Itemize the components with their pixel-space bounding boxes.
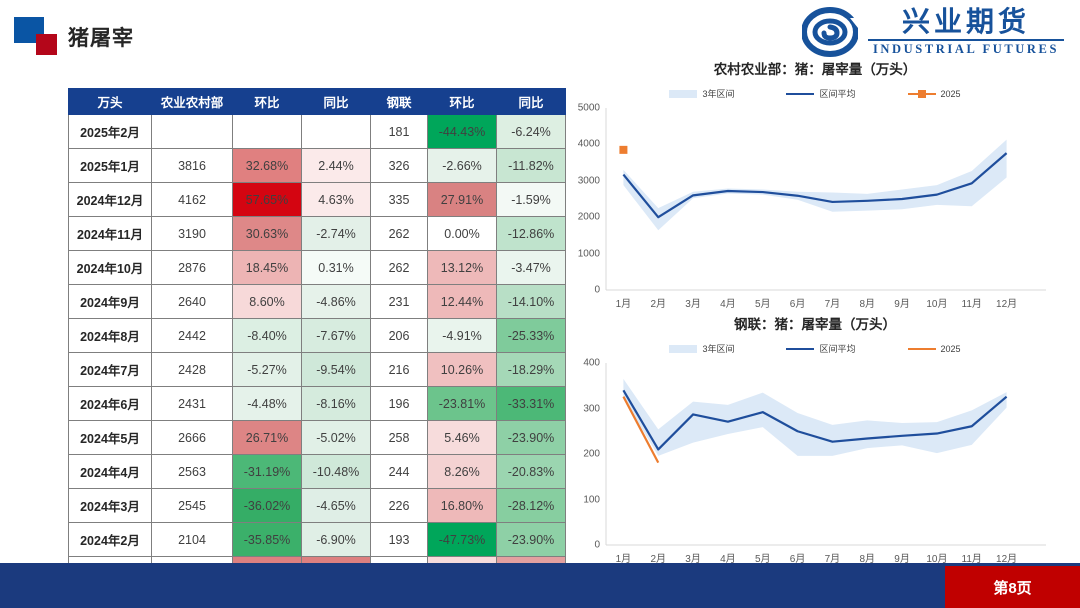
chart2-legend-band: 3年区间 — [669, 342, 734, 355]
table-cell-my_mom: -44.43% — [428, 115, 497, 149]
table-cell-my_mom: 0.00% — [428, 217, 497, 251]
table-cell-my_mom: 13.12% — [428, 251, 497, 285]
line-swatch-icon — [786, 93, 814, 95]
table-cell-my_mom: -47.73% — [428, 523, 497, 557]
y-tick-label: 0 — [594, 285, 600, 296]
chart2-legend-current-label: 2025 — [941, 344, 961, 354]
plot2-svg — [606, 363, 1024, 545]
table-row: 2024年12月416257.65%4.63%33527.91%-1.59% — [69, 183, 566, 217]
table-cell-mara_yoy: -4.65% — [302, 489, 371, 523]
chart1-legend: 3年区间 区间平均 2025 — [560, 87, 1070, 100]
table-col-header-2: 环比 — [233, 89, 302, 115]
table-cell-mara_yoy: -9.54% — [302, 353, 371, 387]
page-number-badge: 第8页 — [945, 566, 1080, 608]
table-cell-mysteel: 258 — [371, 421, 428, 455]
table-row: 2024年9月26408.60%-4.86%23112.44%-14.10% — [69, 285, 566, 319]
chart2-legend-current: 2025 — [908, 342, 961, 355]
table-cell-my_mom: 12.44% — [428, 285, 497, 319]
y-tick-label: 200 — [583, 449, 600, 460]
chart1-legend-current: 2025 — [908, 87, 961, 100]
series-band-3y — [623, 379, 1006, 456]
plot1-svg — [606, 108, 1024, 290]
table-cell-mara_mom: 57.65% — [233, 183, 302, 217]
table-cell-mara_mom: -8.40% — [233, 319, 302, 353]
table-cell-mara_mom: -36.02% — [233, 489, 302, 523]
table-cell-mara_yoy: 0.31% — [302, 251, 371, 285]
table-cell-month: 2024年12月 — [69, 183, 152, 217]
table-header-row: 万头农业农村部环比同比钢联环比同比 — [69, 89, 566, 115]
table-cell-mara: 2876 — [152, 251, 233, 285]
table-cell-my_yoy: -12.86% — [497, 217, 566, 251]
footer-bar: 第8页 — [0, 566, 1080, 608]
x-tick-label: 12月 — [996, 295, 1017, 310]
y-tick-label: 0 — [594, 540, 600, 551]
page-title: 猪屠宰 — [68, 22, 134, 52]
table-cell-mysteel: 262 — [371, 251, 428, 285]
table-row: 2024年7月2428-5.27%-9.54%21610.26%-18.29% — [69, 353, 566, 387]
table-cell-mara_mom: 32.68% — [233, 149, 302, 183]
chart2-plot-area: 01002003004001月2月3月4月5月6月7月8月9月10月11月12月 — [606, 363, 1024, 545]
table-body: 2025年2月181-44.43%-6.24%2025年1月381632.68%… — [69, 115, 566, 591]
chart-mara-slaughter: 农村农业部：猪：屠宰量（万头） 3年区间 区间平均 2025 010002000… — [560, 58, 1070, 308]
table-cell-mara_mom: 26.71% — [233, 421, 302, 455]
series-band-3y — [623, 140, 1006, 231]
table-cell-mysteel: 231 — [371, 285, 428, 319]
table-row: 2025年1月381632.68%2.44%326-2.66%-11.82% — [69, 149, 566, 183]
table-cell-mara: 2563 — [152, 455, 233, 489]
y-tick-label: 1000 — [578, 248, 600, 259]
slaughter-data-table: 万头农业农村部环比同比钢联环比同比 2025年2月181-44.43%-6.24… — [68, 88, 566, 591]
table-row: 2024年4月2563-31.19%-10.48%2448.26%-20.83% — [69, 455, 566, 489]
table-cell-mysteel: 226 — [371, 489, 428, 523]
chart1-title: 农村农业部：猪：屠宰量（万头） — [560, 58, 1070, 78]
table-cell-mysteel: 193 — [371, 523, 428, 557]
table-row: 2024年8月2442-8.40%-7.67%206-4.91%-25.33% — [69, 319, 566, 353]
table-cell-my_mom: -23.81% — [428, 387, 497, 421]
table-cell-mysteel: 326 — [371, 149, 428, 183]
table-cell-mara_mom: 30.63% — [233, 217, 302, 251]
table-cell-mara: 2640 — [152, 285, 233, 319]
x-tick-label: 6月 — [790, 295, 806, 310]
chart1-legend-current-label: 2025 — [941, 89, 961, 99]
table-cell-my_yoy: -11.82% — [497, 149, 566, 183]
y-tick-label: 100 — [583, 494, 600, 505]
chart-mysteel-slaughter: 钢联：猪：屠宰量（万头） 3年区间 区间平均 2025 010020030040… — [560, 313, 1070, 563]
table-col-header-4: 钢联 — [371, 89, 428, 115]
table-cell-my_yoy: -6.24% — [497, 115, 566, 149]
table-cell-mara_mom: -4.48% — [233, 387, 302, 421]
table-col-header-0: 万头 — [69, 89, 152, 115]
x-tick-label: 1月 — [616, 295, 632, 310]
brand-name-cn: 兴业期货 — [902, 8, 1030, 36]
x-tick-label: 4月 — [720, 295, 736, 310]
table-cell-mara: 2545 — [152, 489, 233, 523]
table-cell-month: 2024年9月 — [69, 285, 152, 319]
table-cell-mara_mom: 8.60% — [233, 285, 302, 319]
chart2-legend-mean: 区间平均 — [786, 342, 855, 355]
table-row: 2024年3月2545-36.02%-4.65%22616.80%-28.12% — [69, 489, 566, 523]
x-tick-label: 8月 — [859, 295, 875, 310]
table-cell-my_mom: 8.26% — [428, 455, 497, 489]
chart1-legend-band-label: 3年区间 — [702, 87, 734, 100]
chart2-title: 钢联：猪：屠宰量（万头） — [560, 313, 1070, 333]
table-cell-month: 2025年2月 — [69, 115, 152, 149]
table-cell-month: 2025年1月 — [69, 149, 152, 183]
chart1-legend-mean-label: 区间平均 — [819, 87, 855, 100]
table-cell-mysteel: 244 — [371, 455, 428, 489]
table-cell-month: 2024年7月 — [69, 353, 152, 387]
x-tick-label: 7月 — [825, 295, 841, 310]
table-cell-mara: 2428 — [152, 353, 233, 387]
y-tick-label: 2000 — [578, 212, 600, 223]
y-tick-label: 5000 — [578, 103, 600, 114]
chart1-legend-band: 3年区间 — [669, 87, 734, 100]
table-cell-my_yoy: -14.10% — [497, 285, 566, 319]
table-cell-month: 2024年4月 — [69, 455, 152, 489]
table-cell-mara: 4162 — [152, 183, 233, 217]
y-tick-label: 3000 — [578, 175, 600, 186]
table-cell-mysteel: 181 — [371, 115, 428, 149]
series-marker-2025 — [619, 146, 627, 154]
table-cell-my_yoy: -33.31% — [497, 387, 566, 421]
table-cell-month: 2024年8月 — [69, 319, 152, 353]
y-tick-label: 4000 — [578, 139, 600, 150]
table-cell-my_yoy: -3.47% — [497, 251, 566, 285]
x-tick-label: 10月 — [926, 295, 947, 310]
y-tick-label: 400 — [583, 358, 600, 369]
table-cell-mara_yoy: -7.67% — [302, 319, 371, 353]
table-cell-mara — [152, 115, 233, 149]
table-cell-month: 2024年10月 — [69, 251, 152, 285]
table-col-header-6: 同比 — [497, 89, 566, 115]
table-cell-my_mom: -4.91% — [428, 319, 497, 353]
table-cell-mara: 2431 — [152, 387, 233, 421]
table-cell-mara_yoy: -6.90% — [302, 523, 371, 557]
x-tick-label: 11月 — [962, 295, 982, 310]
chart2-legend-mean-label: 区间平均 — [819, 342, 855, 355]
table-row: 2024年11月319030.63%-2.74%2620.00%-12.86% — [69, 217, 566, 251]
band-swatch-icon — [669, 345, 697, 353]
table-cell-mara_mom: -35.85% — [233, 523, 302, 557]
band-swatch-icon — [669, 90, 697, 98]
table-cell-mara_yoy: 4.63% — [302, 183, 371, 217]
table-cell-my_yoy: -23.90% — [497, 523, 566, 557]
brand-swirl-icon — [802, 6, 858, 58]
table-cell-my_yoy: -20.83% — [497, 455, 566, 489]
table-cell-mara_yoy: -2.74% — [302, 217, 371, 251]
brand-text: 兴业期货 INDUSTRIAL FUTURES — [868, 8, 1064, 56]
chart2-legend: 3年区间 区间平均 2025 — [560, 342, 1070, 355]
table-cell-my_yoy: -18.29% — [497, 353, 566, 387]
chart2-legend-band-label: 3年区间 — [702, 342, 734, 355]
table-cell-mara: 2442 — [152, 319, 233, 353]
table-cell-month: 2024年3月 — [69, 489, 152, 523]
marker-swatch-icon — [908, 90, 936, 98]
table-cell-mara: 3190 — [152, 217, 233, 251]
line-swatch-icon — [786, 348, 814, 350]
table-row: 2025年2月181-44.43%-6.24% — [69, 115, 566, 149]
x-tick-label: 3月 — [685, 295, 701, 310]
table-cell-mara_mom — [233, 115, 302, 149]
table-cell-mysteel: 206 — [371, 319, 428, 353]
table-cell-mysteel: 262 — [371, 217, 428, 251]
logo-square-red — [36, 34, 57, 55]
table-cell-mara_yoy: -8.16% — [302, 387, 371, 421]
table-col-header-5: 环比 — [428, 89, 497, 115]
table-cell-mara_mom: -31.19% — [233, 455, 302, 489]
table-cell-my_yoy: -1.59% — [497, 183, 566, 217]
chart1-plot-area: 0100020003000400050001月2月3月4月5月6月7月8月9月1… — [606, 108, 1024, 290]
table-cell-my_yoy: -25.33% — [497, 319, 566, 353]
table-row: 2024年5月266626.71%-5.02%2585.46%-23.90% — [69, 421, 566, 455]
table-cell-mara_mom: 18.45% — [233, 251, 302, 285]
table-row: 2024年10月287618.45%0.31%26213.12%-3.47% — [69, 251, 566, 285]
table-cell-mara_yoy: -10.48% — [302, 455, 371, 489]
table-cell-my_mom: 5.46% — [428, 421, 497, 455]
table-cell-mara_yoy: -4.86% — [302, 285, 371, 319]
table-cell-mara_yoy: -5.02% — [302, 421, 371, 455]
table-row: 2024年2月2104-35.85%-6.90%193-47.73%-23.90… — [69, 523, 566, 557]
slide-logo-mark — [14, 17, 58, 55]
table-cell-mysteel: 196 — [371, 387, 428, 421]
line-orange-swatch-icon — [908, 348, 936, 350]
table-cell-mara: 2666 — [152, 421, 233, 455]
table-cell-my_mom: 27.91% — [428, 183, 497, 217]
table-cell-mara_yoy — [302, 115, 371, 149]
y-tick-label: 300 — [583, 403, 600, 414]
table-cell-mara: 3816 — [152, 149, 233, 183]
x-tick-label: 9月 — [894, 295, 910, 310]
table-col-header-3: 同比 — [302, 89, 371, 115]
chart1-legend-mean: 区间平均 — [786, 87, 855, 100]
x-tick-label: 2月 — [650, 295, 666, 310]
table-cell-my_mom: -2.66% — [428, 149, 497, 183]
table-cell-month: 2024年11月 — [69, 217, 152, 251]
table-cell-mara_yoy: 2.44% — [302, 149, 371, 183]
table-cell-my_yoy: -28.12% — [497, 489, 566, 523]
brand-logo: 兴业期货 INDUSTRIAL FUTURES — [802, 4, 1064, 60]
x-tick-label: 5月 — [755, 295, 771, 310]
table-cell-my_mom: 10.26% — [428, 353, 497, 387]
table-cell-month: 2024年5月 — [69, 421, 152, 455]
table-cell-mara_mom: -5.27% — [233, 353, 302, 387]
brand-name-en: INDUSTRIAL FUTURES — [873, 43, 1059, 56]
table-cell-my_yoy: -23.90% — [497, 421, 566, 455]
table-cell-mysteel: 216 — [371, 353, 428, 387]
table-cell-mara: 2104 — [152, 523, 233, 557]
table-row: 2024年6月2431-4.48%-8.16%196-23.81%-33.31% — [69, 387, 566, 421]
table-cell-month: 2024年2月 — [69, 523, 152, 557]
brand-divider — [868, 39, 1064, 41]
table-col-header-1: 农业农村部 — [152, 89, 233, 115]
table-cell-month: 2024年6月 — [69, 387, 152, 421]
table-cell-my_mom: 16.80% — [428, 489, 497, 523]
table-cell-mysteel: 335 — [371, 183, 428, 217]
